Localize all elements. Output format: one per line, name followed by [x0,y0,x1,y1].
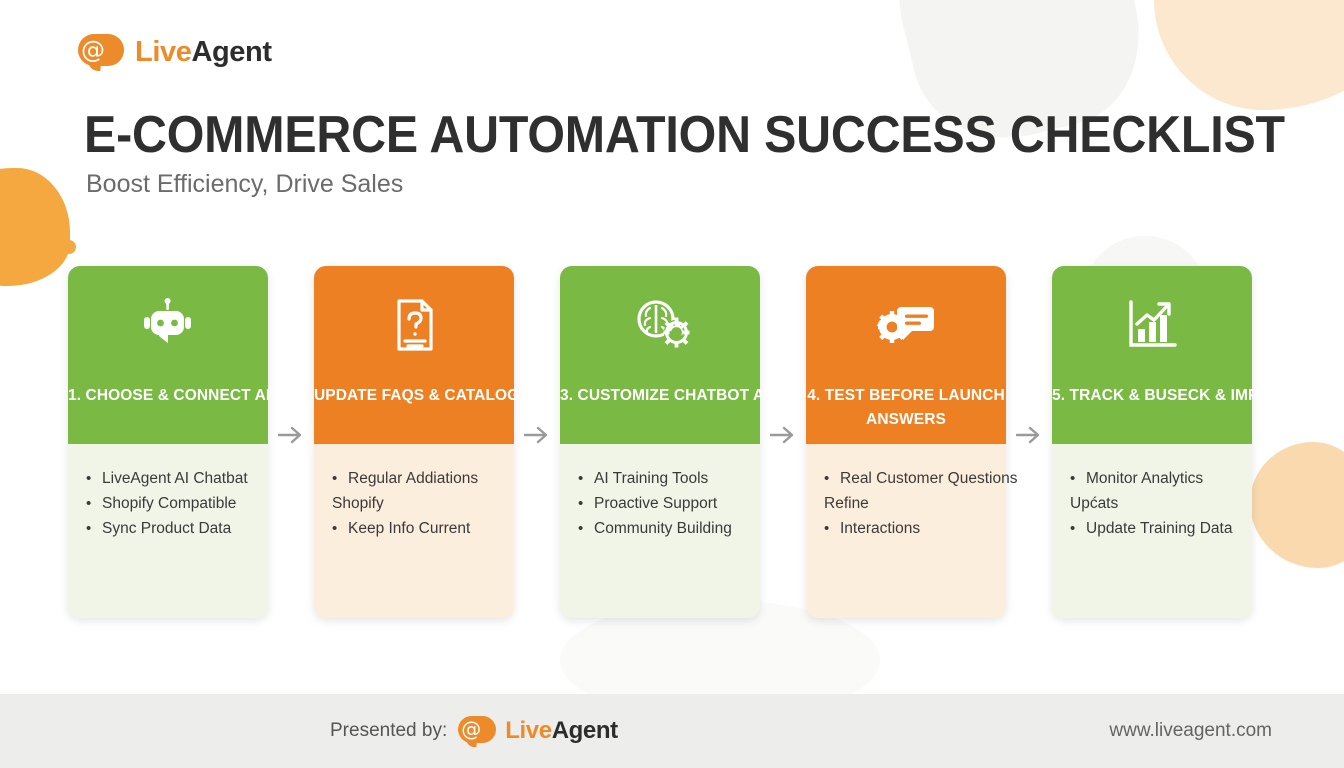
step-card-1-body: LiveAgent AI Chatbat Shopify Compatible … [68,444,268,541]
slide-canvas: @ LiveAgent E-COMMERCE AUTOMATION SUCCES… [0,0,1344,768]
decor-blob-left-orange [0,168,70,286]
step-card-2[interactable]: UPDATE FAQS & CATALOG Regular Addiations… [314,266,514,618]
step-card-5[interactable]: 5. TRACK & BUSECK & IMPROVE Monitor Anal… [1052,266,1252,618]
list-item-wrapped-text: Refine [824,491,992,516]
at-sign-glyph: @ [80,37,106,63]
growth-chart-icon [1121,294,1183,356]
list-item: Regular AddiationsShopify [332,466,500,516]
brand-logo: @ LiveAgent [78,33,272,71]
step-card-3-header: 3. CUSTOMIZE CHATBOT ANSWERS [560,266,760,444]
list-item: Keep Info Current [332,516,500,541]
step-card-2-title-line1: UPDATE FAQS & [314,387,440,404]
connector-arrow-4 [1006,266,1052,618]
list-item: Monitor AnalyticsUpćats [1070,466,1238,516]
step-card-5-body: Monitor AnalyticsUpćats Update Training … [1052,444,1252,541]
liveagent-bubble-icon: @ [458,715,498,747]
list-item: Shopify Compatible [86,491,254,516]
footer-website-url[interactable]: www.liveagent.com [1109,720,1272,742]
list-item: Interactions [824,516,992,541]
list-item: Proactive Support [578,491,746,516]
step-card-3-title: 3. CUSTOMIZE CHATBOT ANSWERS [560,384,760,408]
step-card-3-bullets: AI Training Tools Proactive Support Comm… [578,466,746,541]
step-card-3[interactable]: 3. CUSTOMIZE CHATBOT ANSWERS AI Training… [560,266,760,618]
list-item-text: Monitor Analytics [1086,470,1203,487]
list-item: Real Customer QuestionsRefine [824,466,992,516]
list-item-wrapped-text: Shopify [332,491,500,516]
list-item: LiveAgent AI Chatbat [86,466,254,491]
step-card-4-title-line2: ANSWERS [866,411,946,428]
step-card-2-title-line2: CATALOG [444,387,519,404]
step-card-4-header: 4. TEST BEFORE LAUNCH ANSWERS [806,266,1006,444]
step-card-5-header: 5. TRACK & BUSECK & IMPROVE [1052,266,1252,444]
at-sign-glyph: @ [460,718,482,740]
footer-presented-by: Presented by: @ LiveAgent [330,715,618,747]
connector-arrow-1 [268,266,314,618]
brand-word-live: Live [135,36,191,68]
checklist-steps-row: 1. CHOOSE & CONNECT AI CHATBOT LiveAgent… [68,266,1276,618]
step-card-2-title: UPDATE FAQS & CATALOG [314,384,514,408]
step-card-4-title: 4. TEST BEFORE LAUNCH ANSWERS [800,384,1012,432]
step-card-1-header: 1. CHOOSE & CONNECT AI CHATBOT [68,266,268,444]
step-card-4[interactable]: 4. TEST BEFORE LAUNCH ANSWERS Real Custo… [806,266,1006,618]
step-card-2-header: UPDATE FAQS & CATALOG [314,266,514,444]
step-card-2-bullets: Regular AddiationsShopify Keep Info Curr… [332,466,500,541]
list-item-text: Real Customer Questions [840,470,1017,487]
arrow-right-icon [1016,426,1042,449]
brand-word-agent: Agent [191,36,271,68]
presented-by-label: Presented by: [330,720,447,742]
step-card-1-title-line1: 1. CHOOSE & CONNECT [68,387,251,404]
step-card-1[interactable]: 1. CHOOSE & CONNECT AI CHATBOT LiveAgent… [68,266,268,618]
list-item-wrapped-text: Upćats [1070,491,1238,516]
liveagent-bubble-icon: @ [78,33,126,71]
page-subtitle: Boost Efficiency, Drive Sales [86,170,403,199]
brand-word-live: Live [505,717,551,744]
decor-dot-orange [62,240,76,254]
chat-gear-icon [875,294,937,356]
faq-document-icon [383,294,445,356]
step-card-4-title-line1: 4. TEST BEFORE LAUNCH [800,384,1012,408]
arrow-right-icon [278,426,304,449]
list-item: Update Training Data [1070,516,1238,541]
step-card-5-title-line1: 5. TRACK & BUSECK & [1052,387,1226,404]
list-item: Community Building [578,516,746,541]
page-title: E-COMMERCE AUTOMATION SUCCESS CHECKLIST [84,104,1285,166]
arrow-right-icon [770,426,796,449]
footer-bar: Presented by: @ LiveAgent www.liveagent.… [0,694,1344,768]
brand-word-agent: Agent [552,717,618,744]
step-card-2-body: Regular AddiationsShopify Keep Info Curr… [314,444,514,541]
robot-icon [137,294,199,356]
footer-brand-wordmark: LiveAgent [505,717,617,745]
step-card-5-bullets: Monitor AnalyticsUpćats Update Training … [1070,466,1238,541]
step-card-1-title: 1. CHOOSE & CONNECT AI CHATBOT [68,384,268,408]
step-card-4-body: Real Customer QuestionsRefine Interactio… [806,444,1006,541]
list-item: AI Training Tools [578,466,746,491]
step-card-5-title: 5. TRACK & BUSECK & IMPROVE [1052,384,1252,408]
step-card-1-bullets: LiveAgent AI Chatbat Shopify Compatible … [86,466,254,541]
brand-wordmark: LiveAgent [135,36,272,69]
list-item: Sync Product Data [86,516,254,541]
step-card-3-title-line1: 3. CUSTOMIZE CHATBOT [560,387,749,404]
brain-gear-icon [629,294,691,356]
decor-blob-top-right-peach [1154,0,1344,110]
step-card-4-bullets: Real Customer QuestionsRefine Interactio… [824,466,992,541]
list-item-text: Regular Addiations [348,470,478,487]
step-card-5-title-line2: IMPROVE [1231,387,1303,404]
footer-brand-logo[interactable]: @ LiveAgent [458,715,617,747]
arrow-right-icon [524,426,550,449]
step-card-3-body: AI Training Tools Proactive Support Comm… [560,444,760,541]
connector-arrow-3 [760,266,806,618]
connector-arrow-2 [514,266,560,618]
